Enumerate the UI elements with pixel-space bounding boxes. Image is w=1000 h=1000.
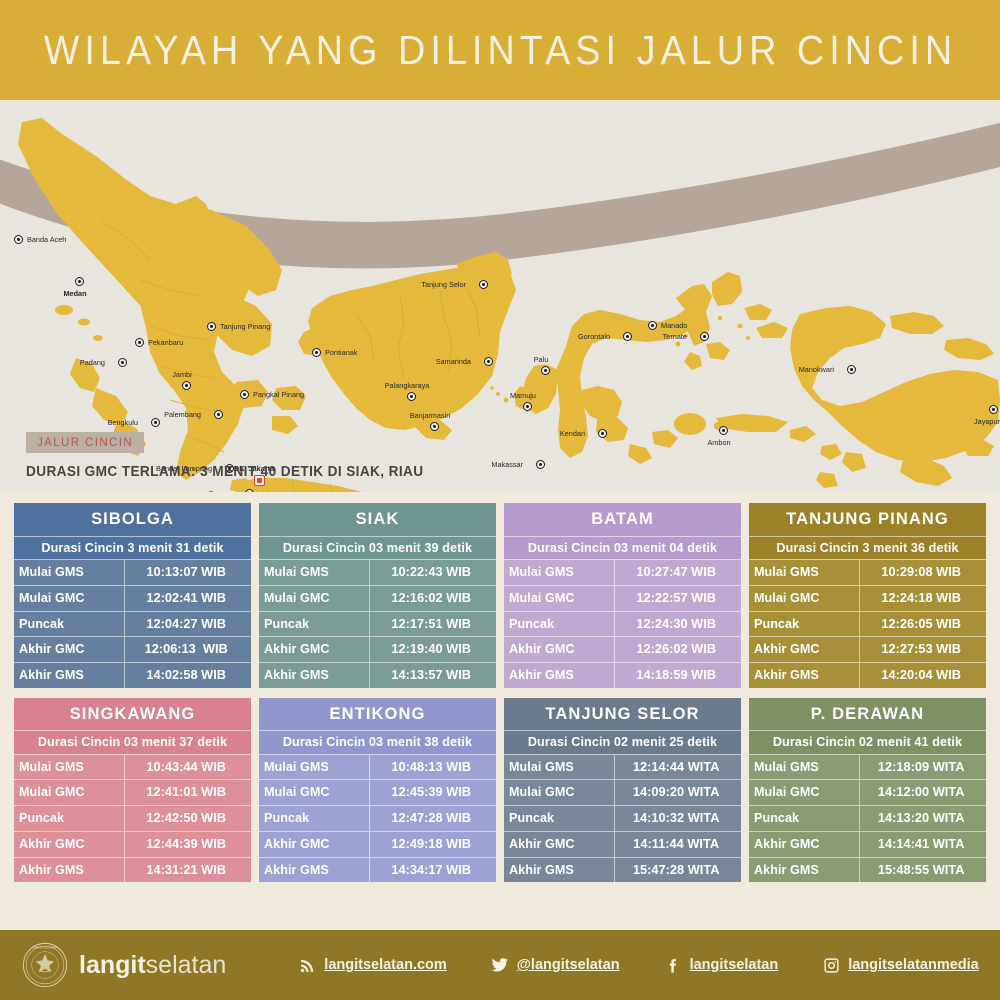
city-dot-icon bbox=[151, 418, 160, 427]
card-duration-label: Durasi Cincin 03 menit 39 detik bbox=[259, 536, 496, 560]
footer-links: langitselatan.com @langitselatan langits… bbox=[298, 956, 978, 975]
city-label: Tanjung Pinang bbox=[220, 322, 270, 331]
card-timing-label: Mulai GMS bbox=[14, 755, 125, 780]
card-timing-row: Akhir GMC12:49:18 WIB bbox=[259, 831, 496, 857]
card-timing-label: Akhir GMS bbox=[749, 858, 860, 883]
city-label: Tanjung Selor bbox=[421, 280, 466, 289]
card-duration-label: Durasi Cincin 02 menit 41 detik bbox=[749, 730, 986, 754]
card-city-title: SIBOLGA bbox=[14, 503, 251, 536]
card-timing-row: Akhir GMC12:26:02 WIB bbox=[504, 636, 741, 662]
card-timing-value: 12:14:44 WITA bbox=[615, 755, 741, 780]
facebook-icon bbox=[664, 956, 683, 975]
city-label: Makassar bbox=[491, 460, 523, 469]
city-label: Palangkaraya bbox=[385, 381, 430, 390]
card-timing-label: Akhir GMS bbox=[14, 663, 125, 688]
card-timing-row: Puncak12:24:30 WIB bbox=[504, 611, 741, 637]
card-timing-value: 10:27:47 WIB bbox=[615, 560, 741, 585]
city-dot-icon bbox=[700, 332, 709, 341]
card-timing-value: 14:13:57 WIB bbox=[370, 663, 496, 688]
card-timing-label: Mulai GMC bbox=[259, 780, 370, 805]
card-timing-row: Mulai GMS12:18:09 WITA bbox=[749, 754, 986, 780]
card-timing-label: Akhir GMC bbox=[259, 832, 370, 857]
card-timing-row: Akhir GMS14:02:58 WIB bbox=[14, 662, 251, 688]
city-dot-icon bbox=[407, 392, 416, 401]
card-timing-value: 12:18:09 WITA bbox=[860, 755, 986, 780]
card-timing-row: Mulai GMC12:16:02 WIB bbox=[259, 585, 496, 611]
city-timing-card: BATAMDurasi Cincin 03 menit 04 detikMula… bbox=[504, 503, 741, 688]
footer-link-website-label: langitselatan.com bbox=[324, 957, 446, 973]
card-duration-label: Durasi Cincin 3 menit 36 detik bbox=[749, 536, 986, 560]
city-timing-card: ENTIKONGDurasi Cincin 03 menit 38 detikM… bbox=[259, 698, 496, 883]
card-timing-label: Mulai GMS bbox=[259, 755, 370, 780]
legend: JALUR CINCIN bbox=[26, 432, 144, 453]
card-timing-row: Puncak12:42:50 WIB bbox=[14, 805, 251, 831]
city-label: Palu bbox=[534, 355, 549, 364]
footer-link-website[interactable]: langitselatan.com bbox=[298, 956, 446, 975]
card-duration-label: Durasi Cincin 03 menit 04 detik bbox=[504, 536, 741, 560]
card-timing-value: 14:14:41 WITA bbox=[860, 832, 986, 857]
card-timing-label: Puncak bbox=[14, 806, 125, 831]
card-timing-label: Puncak bbox=[749, 806, 860, 831]
card-timing-label: Mulai GMC bbox=[14, 586, 125, 611]
card-timing-value: 12:22:57 WIB bbox=[615, 586, 741, 611]
city-dot-icon bbox=[648, 321, 657, 330]
indonesia-map bbox=[0, 100, 1000, 492]
card-timing-label: Mulai GMS bbox=[749, 560, 860, 585]
city-label: Palembang bbox=[164, 410, 201, 419]
card-city-title: TANJUNG PINANG bbox=[749, 503, 986, 536]
card-timing-value: 10:13:07 WIB bbox=[125, 560, 251, 585]
city-dot-icon bbox=[623, 332, 632, 341]
card-timing-row: Akhir GMC14:14:41 WITA bbox=[749, 831, 986, 857]
footer-link-instagram-label: langitselatanmedia bbox=[848, 957, 979, 973]
card-timing-value: 14:34:17 WIB bbox=[370, 858, 496, 883]
city-timing-card: SIBOLGADurasi Cincin 3 menit 31 detikMul… bbox=[14, 503, 251, 688]
footer-link-instagram[interactable]: langitselatanmedia bbox=[822, 956, 979, 975]
card-timing-label: Mulai GMS bbox=[749, 755, 860, 780]
city-timing-card: P. DERAWANDurasi Cincin 02 menit 41 deti… bbox=[749, 698, 986, 883]
card-timing-value: 12:47:28 WIB bbox=[370, 806, 496, 831]
card-timing-label: Mulai GMC bbox=[259, 586, 370, 611]
card-timing-row: Mulai GMC12:22:57 WIB bbox=[504, 585, 741, 611]
city-label: Pekanbaru bbox=[148, 338, 183, 347]
city-timing-cards-section: SIBOLGADurasi Cincin 3 menit 31 detikMul… bbox=[0, 492, 1000, 930]
card-timing-value: 15:48:55 WITA bbox=[860, 858, 986, 883]
card-timing-label: Akhir GMC bbox=[504, 832, 615, 857]
city-label: Jayapura bbox=[974, 417, 1000, 426]
card-timing-label: Akhir GMS bbox=[259, 663, 370, 688]
card-timing-label: Puncak bbox=[504, 806, 615, 831]
card-grid: SIBOLGADurasi Cincin 3 menit 31 detikMul… bbox=[14, 503, 986, 882]
city-label: Samarinda bbox=[436, 357, 471, 366]
card-timing-label: Mulai GMC bbox=[504, 586, 615, 611]
card-timing-label: Mulai GMC bbox=[749, 780, 860, 805]
card-timing-label: Akhir GMC bbox=[749, 832, 860, 857]
card-timing-value: 10:22:43 WIB bbox=[370, 560, 496, 585]
city-dot-icon bbox=[523, 402, 532, 411]
city-dot-icon bbox=[484, 357, 493, 366]
rss-icon bbox=[298, 956, 317, 975]
city-dot-icon bbox=[536, 460, 545, 469]
city-label: Gorontalo bbox=[578, 332, 610, 341]
card-timing-label: Puncak bbox=[259, 612, 370, 637]
brand-wordmark-light: selatan bbox=[146, 951, 227, 979]
card-timing-label: Mulai GMC bbox=[14, 780, 125, 805]
city-dot-icon bbox=[14, 235, 23, 244]
city-label: Ambon bbox=[707, 438, 730, 447]
card-city-title: P. DERAWAN bbox=[749, 698, 986, 731]
card-timing-row: Puncak12:26:05 WIB bbox=[749, 611, 986, 637]
city-dot-icon bbox=[135, 338, 144, 347]
card-timing-label: Puncak bbox=[14, 612, 125, 637]
city-label: Banda Aceh bbox=[27, 235, 66, 244]
card-timing-value: 12:16:02 WIB bbox=[370, 586, 496, 611]
city-dot-icon bbox=[75, 277, 84, 286]
legend-badge-jalur-cincin: JALUR CINCIN bbox=[26, 432, 144, 453]
card-timing-value: 12:41:01 WIB bbox=[125, 780, 251, 805]
card-timing-label: Puncak bbox=[504, 612, 615, 637]
card-timing-row: Akhir GMC12:06:13 WIB bbox=[14, 636, 251, 662]
card-timing-value: 12:26:02 WIB bbox=[615, 637, 741, 662]
brand: LANGITSELATAN langitselatan bbox=[22, 942, 226, 988]
card-timing-label: Mulai GMS bbox=[14, 560, 125, 585]
card-timing-row: Akhir GMS14:18:59 WIB bbox=[504, 662, 741, 688]
city-label: Pangkal Pinang bbox=[253, 390, 304, 399]
city-label: Ternate bbox=[663, 332, 687, 341]
brand-wordmark: langitselatan bbox=[79, 953, 226, 978]
card-timing-row: Mulai GMS10:22:43 WIB bbox=[259, 559, 496, 585]
card-timing-label: Mulai GMS bbox=[504, 755, 615, 780]
card-timing-label: Akhir GMC bbox=[14, 637, 125, 662]
city-timing-card: SINGKAWANGDurasi Cincin 03 menit 37 deti… bbox=[14, 698, 251, 883]
card-timing-label: Akhir GMC bbox=[259, 637, 370, 662]
card-timing-value: 14:31:21 WIB bbox=[125, 858, 251, 883]
card-timing-value: 10:29:08 WIB bbox=[860, 560, 986, 585]
card-timing-row: Mulai GMS10:29:08 WIB bbox=[749, 559, 986, 585]
page-header: WILAYAH YANG DILINTASI JALUR CINCIN bbox=[0, 0, 1000, 100]
city-dot-icon bbox=[989, 405, 998, 414]
card-timing-row: Akhir GMS15:48:55 WITA bbox=[749, 857, 986, 883]
footer-link-facebook[interactable]: langitselatan bbox=[664, 956, 779, 975]
card-timing-label: Akhir GMS bbox=[259, 858, 370, 883]
instagram-icon bbox=[822, 956, 841, 975]
city-timing-card: TANJUNG SELORDurasi Cincin 02 menit 25 d… bbox=[504, 698, 741, 883]
footer-link-facebook-label: langitselatan bbox=[690, 957, 779, 973]
card-timing-row: Mulai GMC14:12:00 WITA bbox=[749, 779, 986, 805]
city-dot-icon bbox=[245, 489, 254, 492]
city-dot-icon bbox=[312, 348, 321, 357]
card-timing-row: Mulai GMS10:43:44 WIB bbox=[14, 754, 251, 780]
card-timing-label: Mulai GMC bbox=[504, 780, 615, 805]
card-timing-row: Akhir GMC12:27:53 WIB bbox=[749, 636, 986, 662]
svg-text:LANGITSELATAN: LANGITSELATAN bbox=[32, 945, 58, 949]
card-timing-value: 12:04:27 WIB bbox=[125, 612, 251, 637]
card-timing-value: 14:10:32 WITA bbox=[615, 806, 741, 831]
card-timing-value: 12:49:18 WIB bbox=[370, 832, 496, 857]
card-timing-value: 14:11:44 WITA bbox=[615, 832, 741, 857]
map-panel: Banda AcehMedanTanjung PinangPekanbaruPa… bbox=[0, 100, 1000, 492]
city-dot-icon bbox=[719, 426, 728, 435]
card-timing-row: Mulai GMC12:41:01 WIB bbox=[14, 779, 251, 805]
card-timing-label: Akhir GMC bbox=[749, 637, 860, 662]
city-dot-icon bbox=[479, 280, 488, 289]
card-timing-row: Akhir GMS14:13:57 WIB bbox=[259, 662, 496, 688]
card-timing-row: Akhir GMS15:47:28 WITA bbox=[504, 857, 741, 883]
card-timing-row: Mulai GMS10:48:13 WIB bbox=[259, 754, 496, 780]
card-timing-label: Akhir GMC bbox=[14, 832, 125, 857]
city-label: Manado bbox=[661, 321, 687, 330]
card-timing-value: 14:12:00 WITA bbox=[860, 780, 986, 805]
city-dot-icon bbox=[847, 365, 856, 374]
card-city-title: SINGKAWANG bbox=[14, 698, 251, 731]
city-label: Jambi bbox=[172, 370, 191, 379]
city-dot-icon bbox=[240, 390, 249, 399]
map-caption: DURASI GMC TERLAMA: 3 MENIT 40 DETIK DI … bbox=[26, 464, 423, 480]
city-label: Mamuju bbox=[510, 391, 536, 400]
card-city-title: SIAK bbox=[259, 503, 496, 536]
city-dot-icon bbox=[182, 381, 191, 390]
card-timing-row: Puncak12:17:51 WIB bbox=[259, 611, 496, 637]
card-timing-value: 14:02:58 WIB bbox=[125, 663, 251, 688]
card-timing-label: Akhir GMS bbox=[504, 858, 615, 883]
card-timing-label: Akhir GMS bbox=[749, 663, 860, 688]
city-timing-card: SIAKDurasi Cincin 03 menit 39 detikMulai… bbox=[259, 503, 496, 688]
card-timing-value: 12:44:39 WIB bbox=[125, 832, 251, 857]
card-timing-value: 14:20:04 WIB bbox=[860, 663, 986, 688]
card-timing-value: 12:26:05 WIB bbox=[860, 612, 986, 637]
city-label: Medan bbox=[63, 289, 86, 298]
page-footer: LANGITSELATAN langitselatan langitselata… bbox=[0, 930, 1000, 1000]
card-timing-value: 12:17:51 WIB bbox=[370, 612, 496, 637]
card-timing-value: 10:48:13 WIB bbox=[370, 755, 496, 780]
card-city-title: BATAM bbox=[504, 503, 741, 536]
card-timing-row: Mulai GMS10:13:07 WIB bbox=[14, 559, 251, 585]
card-duration-label: Durasi Cincin 03 menit 37 detik bbox=[14, 730, 251, 754]
card-timing-row: Puncak14:10:32 WITA bbox=[504, 805, 741, 831]
card-timing-row: Akhir GMS14:20:04 WIB bbox=[749, 662, 986, 688]
page-title: WILAYAH YANG DILINTASI JALUR CINCIN bbox=[43, 27, 956, 74]
card-timing-row: Mulai GMC12:24:18 WIB bbox=[749, 585, 986, 611]
card-timing-row: Puncak12:47:28 WIB bbox=[259, 805, 496, 831]
city-dot-icon bbox=[598, 429, 607, 438]
card-timing-row: Mulai GMS12:14:44 WITA bbox=[504, 754, 741, 780]
card-timing-value: 14:18:59 WIB bbox=[615, 663, 741, 688]
city-dot-icon bbox=[214, 410, 223, 419]
card-timing-row: Akhir GMS14:31:21 WIB bbox=[14, 857, 251, 883]
city-label: Pontianak bbox=[325, 348, 357, 357]
card-timing-label: Akhir GMC bbox=[504, 637, 615, 662]
card-timing-value: 12:42:50 WIB bbox=[125, 806, 251, 831]
card-timing-row: Mulai GMC14:09:20 WITA bbox=[504, 779, 741, 805]
langitselatan-seal-logo: LANGITSELATAN bbox=[22, 942, 68, 988]
infographic-page: WILAYAH YANG DILINTASI JALUR CINCIN bbox=[0, 0, 1000, 1000]
card-timing-value: 10:43:44 WIB bbox=[125, 755, 251, 780]
card-timing-row: Mulai GMC12:45:39 WIB bbox=[259, 779, 496, 805]
card-timing-label: Mulai GMS bbox=[259, 560, 370, 585]
card-timing-row: Mulai GMS10:27:47 WIB bbox=[504, 559, 741, 585]
city-label: Padang bbox=[80, 358, 105, 367]
card-timing-row: Akhir GMS14:34:17 WIB bbox=[259, 857, 496, 883]
card-timing-row: Akhir GMC12:19:40 WIB bbox=[259, 636, 496, 662]
card-timing-value: 12:27:53 WIB bbox=[860, 637, 986, 662]
card-city-title: ENTIKONG bbox=[259, 698, 496, 731]
twitter-icon bbox=[491, 956, 510, 975]
city-dot-icon bbox=[541, 366, 550, 375]
card-timing-row: Akhir GMC14:11:44 WITA bbox=[504, 831, 741, 857]
footer-link-twitter[interactable]: @langitselatan bbox=[491, 956, 620, 975]
card-timing-label: Akhir GMS bbox=[504, 663, 615, 688]
card-city-title: TANJUNG SELOR bbox=[504, 698, 741, 731]
city-label: Serang bbox=[208, 489, 232, 493]
footer-link-twitter-label: @langitselatan bbox=[517, 957, 620, 973]
card-timing-value: 12:24:18 WIB bbox=[860, 586, 986, 611]
card-timing-row: Puncak14:13:20 WITA bbox=[749, 805, 986, 831]
card-timing-value: 15:47:28 WITA bbox=[615, 858, 741, 883]
card-timing-value: 12:24:30 WIB bbox=[615, 612, 741, 637]
city-dot-icon bbox=[430, 422, 439, 431]
card-timing-row: Puncak12:04:27 WIB bbox=[14, 611, 251, 637]
city-label: Bengkulu bbox=[108, 418, 138, 427]
brand-wordmark-bold: langit bbox=[79, 951, 146, 979]
card-timing-label: Akhir GMS bbox=[14, 858, 125, 883]
card-duration-label: Durasi Cincin 3 menit 31 detik bbox=[14, 536, 251, 560]
card-timing-value: 12:02:41 WIB bbox=[125, 586, 251, 611]
card-timing-label: Mulai GMS bbox=[504, 560, 615, 585]
card-timing-value: 12:06:13 WIB bbox=[125, 637, 251, 662]
city-timing-card: TANJUNG PINANGDurasi Cincin 3 menit 36 d… bbox=[749, 503, 986, 688]
card-timing-label: Puncak bbox=[749, 612, 860, 637]
card-timing-label: Mulai GMC bbox=[749, 586, 860, 611]
city-dot-icon bbox=[118, 358, 127, 367]
card-timing-row: Akhir GMC12:44:39 WIB bbox=[14, 831, 251, 857]
card-timing-value: 12:45:39 WIB bbox=[370, 780, 496, 805]
card-timing-row: Mulai GMC12:02:41 WIB bbox=[14, 585, 251, 611]
city-label: Manokwari bbox=[799, 365, 834, 374]
card-duration-label: Durasi Cincin 02 menit 25 detik bbox=[504, 730, 741, 754]
card-timing-label: Puncak bbox=[259, 806, 370, 831]
card-timing-value: 12:19:40 WIB bbox=[370, 637, 496, 662]
card-timing-value: 14:09:20 WITA bbox=[615, 780, 741, 805]
city-label: Kendari bbox=[560, 429, 585, 438]
card-timing-value: 14:13:20 WITA bbox=[860, 806, 986, 831]
city-label: Banjarmasin bbox=[410, 411, 451, 420]
card-duration-label: Durasi Cincin 03 menit 38 detik bbox=[259, 730, 496, 754]
city-dot-icon bbox=[207, 322, 216, 331]
